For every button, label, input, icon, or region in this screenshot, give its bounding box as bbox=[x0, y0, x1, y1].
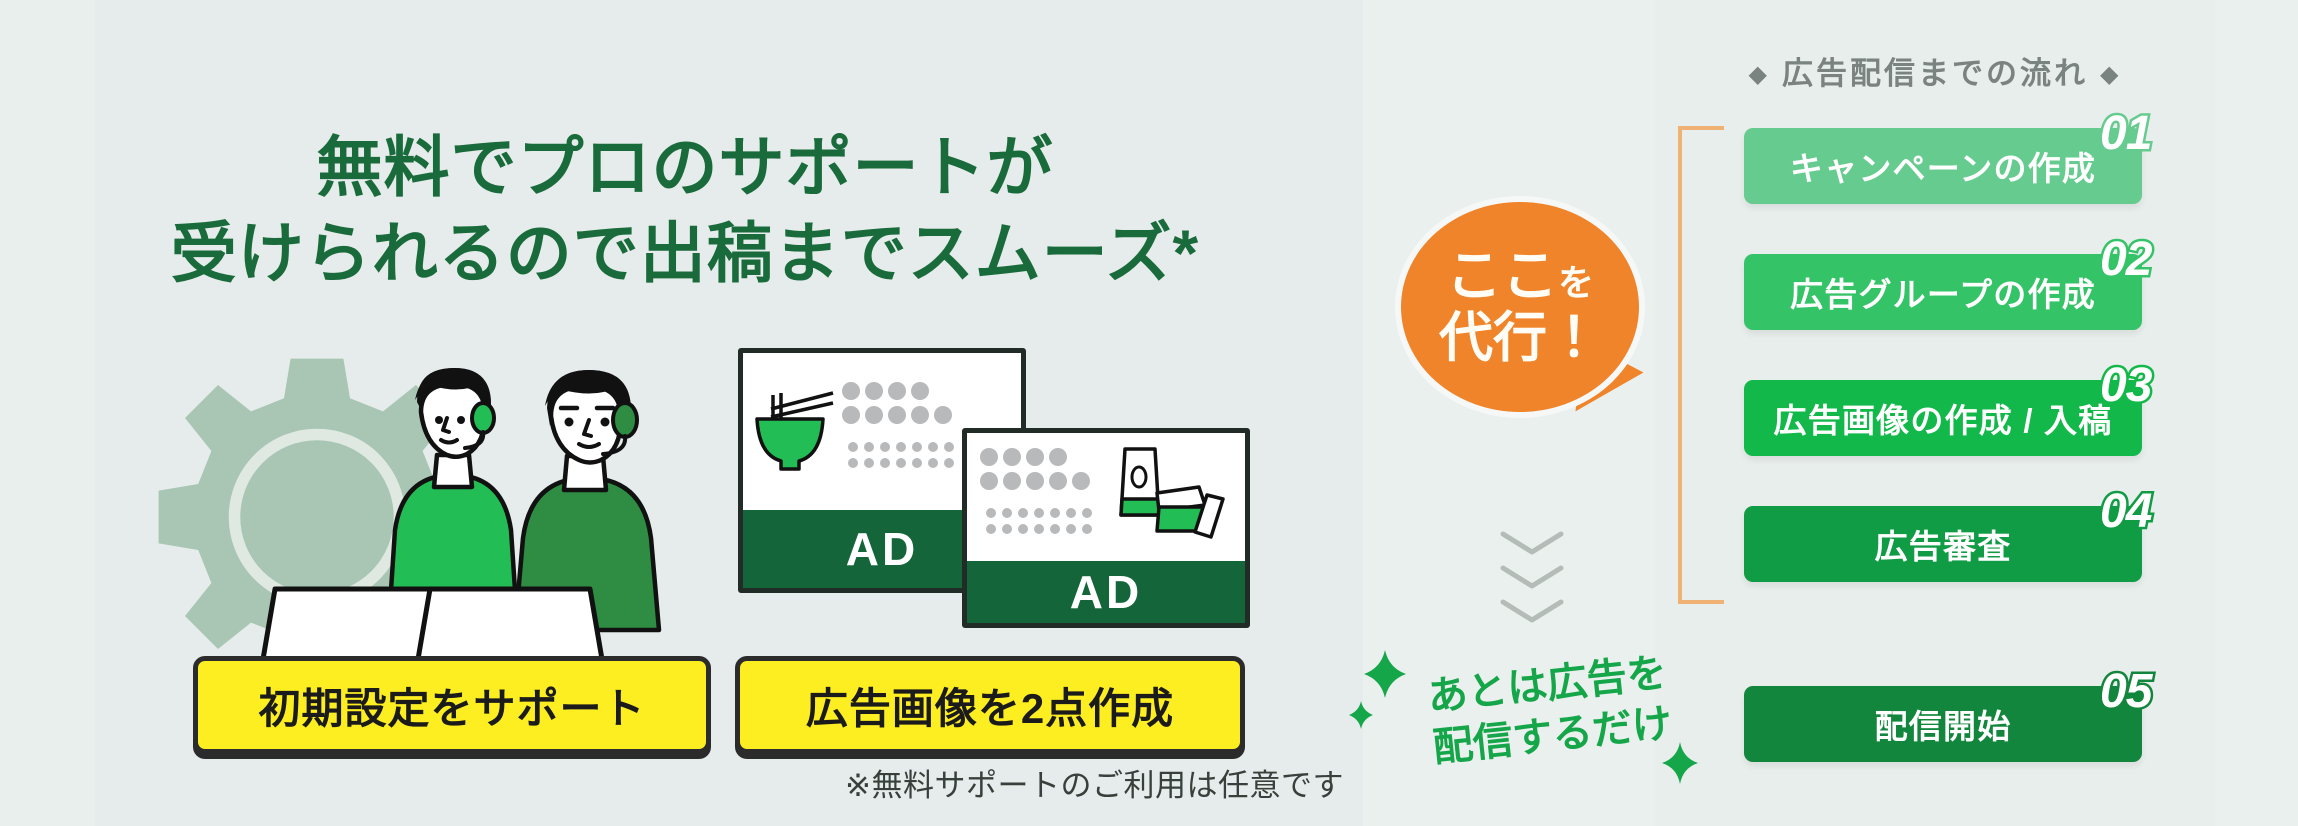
flow-step-02[interactable]: 広告グループの作成 bbox=[1744, 254, 2142, 330]
flow-title-text: 広告配信までの流れ bbox=[1782, 56, 2088, 91]
chevron-down-icon bbox=[1497, 596, 1567, 626]
delegation-speech-bubble: ここを 代行！ bbox=[1395, 196, 1645, 418]
flow-step-number-01: 01 bbox=[2100, 110, 2151, 158]
speech-bubble-line-1: ここを bbox=[1446, 245, 1594, 308]
chevron-down-icon bbox=[1497, 528, 1567, 558]
disclaimer-note: ※無料サポートのご利用は任意です bbox=[845, 760, 1344, 805]
hero-banner: 無料でプロのサポートが 受けられるので出稿までスムーズ* bbox=[0, 0, 2298, 826]
flow-step-number-03: 03 bbox=[2100, 362, 2151, 410]
headline-line-1: 無料でプロのサポートが bbox=[130, 125, 1240, 211]
speech-bubble-text: ここを 代行！ bbox=[1395, 196, 1645, 418]
sparkle-icon bbox=[1348, 700, 1374, 730]
cosmetics-tube-icon bbox=[967, 433, 1235, 559]
flow-step-number-04: 04 bbox=[2100, 488, 2151, 536]
feature-badge-setup: 初期設定をサポート bbox=[193, 656, 711, 754]
flow-step-01[interactable]: キャンペーンの作成 bbox=[1744, 128, 2142, 204]
flow-title: ◆広告配信までの流れ◆ bbox=[1655, 48, 2215, 93]
page-headline: 無料でプロのサポートが 受けられるので出稿までスムーズ* bbox=[130, 125, 1240, 297]
speech-bubble-line-1-main: ここ bbox=[1446, 244, 1558, 307]
delegation-bracket bbox=[1678, 126, 1724, 604]
speech-bubble-line-1-particle: を bbox=[1558, 262, 1594, 303]
headline-line-2: 受けられるので出稿までスムーズ* bbox=[130, 211, 1240, 297]
ad-card-cosmetics: AD bbox=[962, 428, 1250, 628]
ad-card-body bbox=[967, 433, 1245, 561]
flow-step-04[interactable]: 広告審査 bbox=[1744, 506, 2142, 582]
flow-step-number-02: 02 bbox=[2100, 236, 2151, 284]
flow-step-number-05: 05 bbox=[2100, 668, 2151, 716]
feature-badge-creative: 広告画像を2点作成 bbox=[735, 656, 1245, 754]
ad-card-label: AD bbox=[967, 561, 1245, 623]
chevron-down-icon bbox=[1497, 562, 1567, 592]
diamond-icon-right: ◆ bbox=[2100, 61, 2121, 88]
flow-step-03[interactable]: 広告画像の作成 / 入稿 bbox=[1744, 380, 2142, 456]
speech-bubble-line-2: 代行！ bbox=[1439, 308, 1601, 368]
flow-step-05[interactable]: 配信開始 bbox=[1744, 686, 2142, 762]
diamond-icon-left: ◆ bbox=[1749, 61, 1770, 88]
